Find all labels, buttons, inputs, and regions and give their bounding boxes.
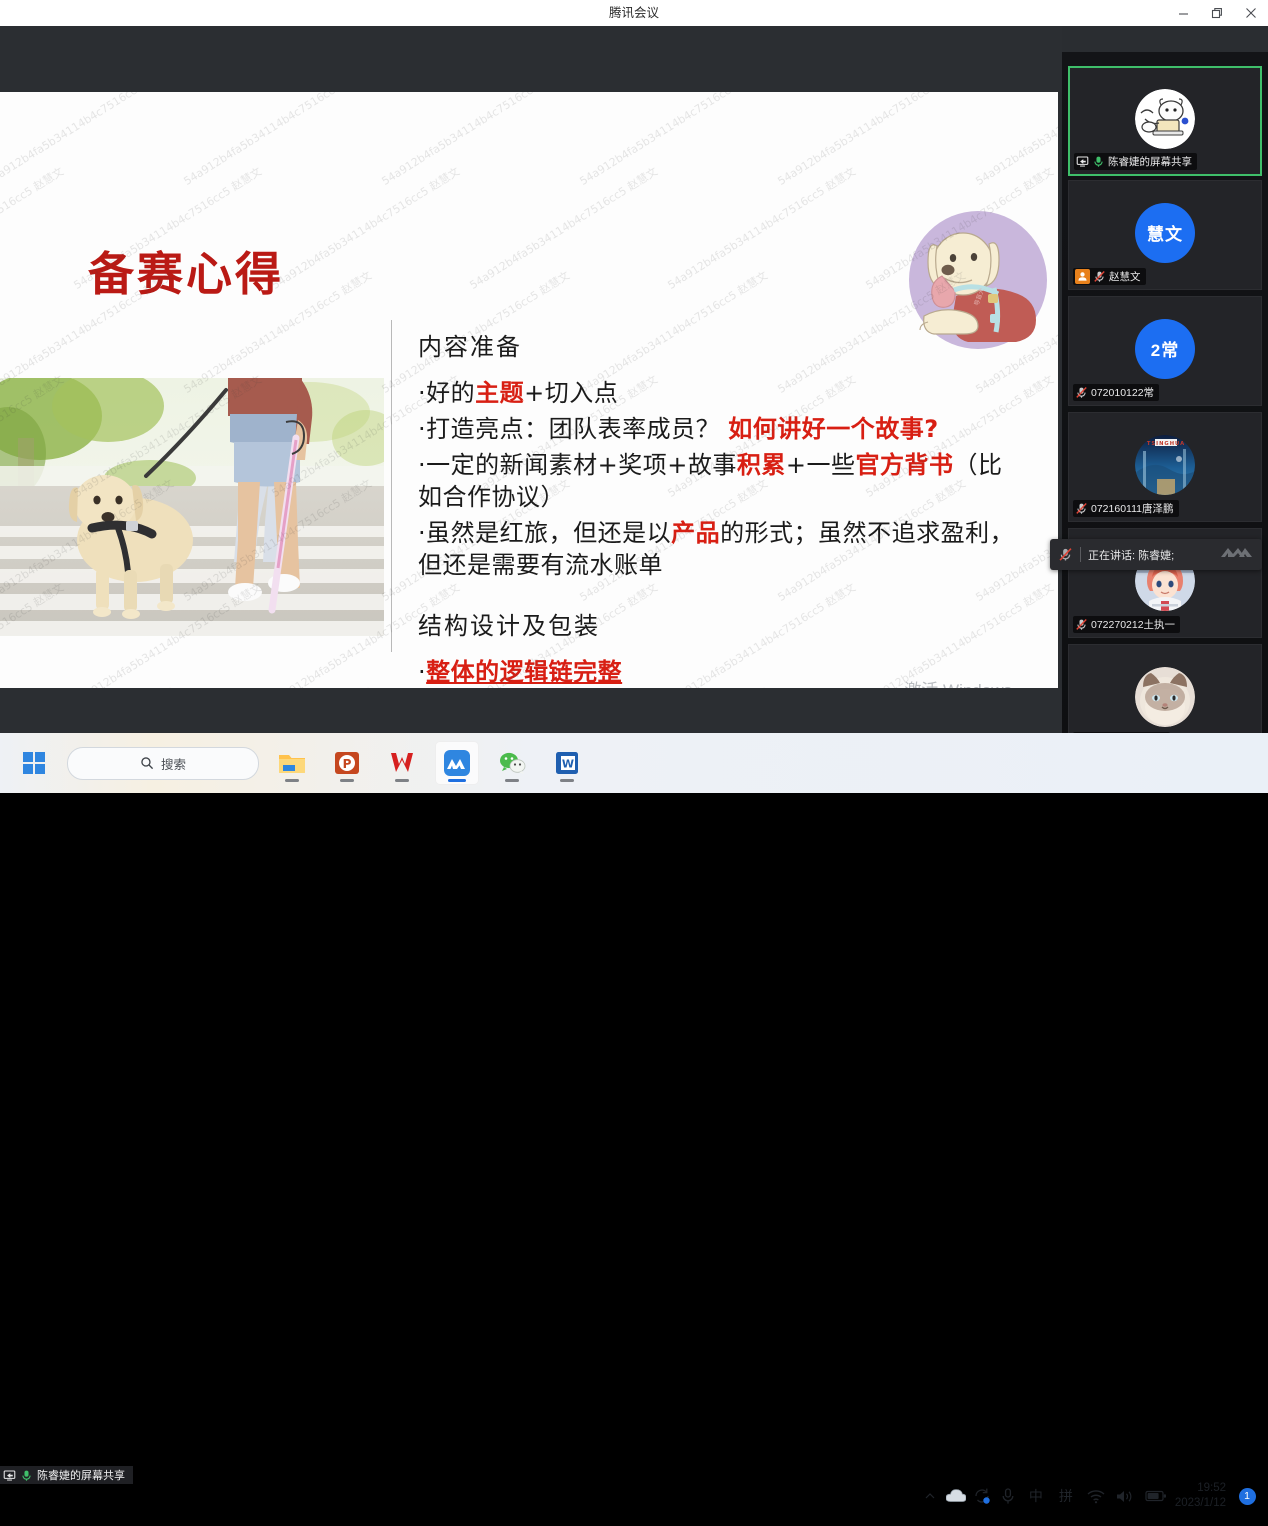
participant-name: 072160111唐泽鹏 bbox=[1091, 501, 1174, 516]
bullet-marker: · bbox=[418, 451, 426, 479]
taskbar-app-file-explorer[interactable] bbox=[270, 741, 314, 785]
powerpoint-icon: P bbox=[334, 750, 360, 776]
watermark-text: 54a912b4fa5b34114b4c7516cc5 赵慧文 bbox=[664, 163, 858, 293]
participant-name: 赵慧文 bbox=[1109, 269, 1141, 284]
shared-slide[interactable]: 备赛心得 bbox=[0, 92, 1058, 688]
file-explorer-icon bbox=[278, 751, 306, 775]
screen-share-icon bbox=[3, 1469, 16, 1482]
tencent-meeting-icon bbox=[443, 749, 471, 777]
window-title: 腾讯会议 bbox=[0, 0, 1268, 26]
screen-sharing-indicator[interactable]: 陈睿婕的屏幕共享 bbox=[0, 1466, 133, 1484]
bullet-part: 一定的新闻素材+奖项+故事 bbox=[426, 451, 737, 479]
close-button[interactable] bbox=[1234, 0, 1268, 26]
watermark-text: 54a912b4fa5b34114b4c7516cc5 赵慧文 bbox=[774, 92, 968, 189]
participant-namebar: 072270212土执一 bbox=[1073, 616, 1180, 633]
bullet-part-accent: 积累 bbox=[737, 451, 786, 479]
start-button[interactable] bbox=[12, 741, 56, 785]
guide-dog-illustration-badge: 导盲犬 bbox=[908, 210, 1048, 350]
slide-body: 内容准备 ·好的主题+切入点 ·打造亮点：团队表率成员？ 如何讲好一个故事? ·… bbox=[418, 332, 1018, 688]
activation-line-1: 激活 Windows bbox=[852, 680, 1012, 688]
tray-overflow-chevron-icon[interactable] bbox=[917, 1466, 943, 1526]
mic-on-icon bbox=[20, 1469, 33, 1482]
content-divider bbox=[391, 320, 392, 652]
bullet-marker: · bbox=[418, 415, 426, 443]
minimize-button[interactable] bbox=[1166, 0, 1200, 26]
participant-rail[interactable]: 陈睿婕的屏幕共享 慧文 bbox=[1062, 52, 1268, 759]
section-heading-structure-design: 结构设计及包装 bbox=[418, 611, 1018, 641]
ime-mode-indicator[interactable]: 中 bbox=[1021, 1466, 1051, 1526]
clock-date: 2023/1/12 bbox=[1175, 1496, 1226, 1511]
sharing-label: 陈睿婕的屏幕共享 bbox=[37, 1467, 125, 1483]
bullet-part-accent: 主题 bbox=[475, 379, 524, 407]
participant-name: 陈睿婕的屏幕共享 bbox=[1108, 154, 1192, 169]
toast-separator bbox=[1080, 547, 1081, 562]
watermark-text: 54a912b4fa5b34114b4c7516cc5 赵慧文 bbox=[576, 92, 770, 189]
title-bar: 腾讯会议 bbox=[0, 0, 1268, 26]
mic-muted-icon bbox=[1093, 270, 1106, 283]
windows-activation-watermark: 激活 Windows 转到"设置"以激活 Windows。 bbox=[852, 680, 1012, 688]
clock-time: 19:52 bbox=[1197, 1481, 1226, 1496]
participant-tile[interactable]: 2常 072010122常 bbox=[1068, 296, 1262, 406]
wps-office-icon bbox=[389, 751, 415, 775]
search-icon bbox=[140, 756, 154, 770]
search-placeholder: 搜索 bbox=[161, 754, 186, 773]
bullet-part: +切入点 bbox=[524, 379, 618, 407]
bullet-marker: · bbox=[418, 379, 426, 407]
ime-pinyin-label: 拼 bbox=[1059, 1486, 1073, 1506]
share-bottom-band bbox=[0, 688, 1062, 733]
bullet-part-accent: 产品 bbox=[671, 519, 720, 547]
wechat-icon bbox=[499, 751, 526, 775]
watermark-text: 54a912b4fa5b34114b4c7516cc5 赵慧文 bbox=[972, 92, 1058, 189]
bullet-part-accent: 官方背书 bbox=[855, 451, 953, 479]
svg-text:W: W bbox=[562, 758, 574, 771]
tencent-meeting-logo-icon bbox=[1220, 544, 1254, 565]
notification-center-button[interactable]: 1 bbox=[1234, 1466, 1260, 1526]
taskbar-app-wps-office[interactable] bbox=[380, 741, 424, 785]
windows-taskbar[interactable]: 搜索 P bbox=[0, 733, 1268, 793]
section-heading-content-prep: 内容准备 bbox=[418, 332, 1018, 362]
mic-muted-icon bbox=[1075, 502, 1088, 515]
microphone-icon[interactable] bbox=[995, 1466, 1021, 1526]
avatar bbox=[1135, 89, 1195, 149]
taskbar-app-tencent-meeting[interactable] bbox=[435, 741, 479, 785]
bullet-part-accent: 整体的逻辑链完整 bbox=[426, 658, 622, 686]
bullet-part-accent: 如何讲好一个故事? bbox=[728, 415, 938, 443]
mic-muted-icon bbox=[1058, 547, 1073, 562]
svg-text:P: P bbox=[343, 757, 352, 771]
taskbar-apps: 搜索 P bbox=[0, 733, 589, 793]
window-controls bbox=[1166, 0, 1268, 26]
watermark-text: 54a912b4fa5b34114b4c7516cc5 赵慧文 bbox=[0, 92, 177, 189]
app-running-indicator bbox=[395, 779, 409, 782]
bullet-part: 打造亮点：团队表率成员？ bbox=[426, 415, 728, 443]
watermark-text: 54a912b4fa5b34114b4c7516cc5 赵慧文 bbox=[466, 163, 660, 293]
ime-mode-label: 中 bbox=[1029, 1486, 1043, 1506]
participant-namebar: 072160111唐泽鹏 bbox=[1073, 500, 1179, 517]
host-icon bbox=[1075, 269, 1090, 284]
participant-namebar: 赵慧文 bbox=[1073, 268, 1146, 285]
participant-tile[interactable]: TSINGHUA 072160111唐泽鹏 bbox=[1068, 412, 1262, 522]
notification-badge: 1 bbox=[1239, 1488, 1256, 1505]
avatar: 2常 bbox=[1135, 319, 1195, 379]
app-running-indicator bbox=[560, 779, 574, 782]
bullet-item: ·好的主题+切入点 bbox=[418, 378, 1018, 410]
svg-text:TSINGHUA: TSINGHUA bbox=[1147, 441, 1185, 447]
screen-share-icon bbox=[1076, 155, 1089, 168]
ime-pinyin-indicator[interactable]: 拼 bbox=[1051, 1466, 1081, 1526]
app-running-indicator bbox=[340, 779, 354, 782]
app-running-indicator bbox=[285, 779, 299, 782]
taskbar-app-word[interactable]: W bbox=[545, 741, 589, 785]
clock[interactable]: 19:52 2023/1/12 bbox=[1171, 1466, 1234, 1526]
bullet-part: 虽然是红旅，但还是以 bbox=[426, 519, 671, 547]
avatar: 慧文 bbox=[1135, 203, 1195, 263]
speaking-toast: 正在讲话: 陈睿婕; bbox=[1050, 539, 1262, 570]
bullet-item: ·打造亮点：团队表率成员？ 如何讲好一个故事? bbox=[418, 414, 1018, 446]
guide-dog-photo bbox=[0, 378, 384, 636]
watermark-text: 54a912b4fa5b34114b4c7516cc5 赵慧文 bbox=[378, 92, 572, 189]
participant-tile[interactable]: 慧文 赵慧文 bbox=[1068, 180, 1262, 290]
bullet-marker: · bbox=[418, 658, 426, 686]
watermark-text: 54a912b4fa5b34114b4c7516cc5 赵慧文 bbox=[0, 683, 177, 688]
bullet-item: ·一定的新闻素材+奖项+故事积累+一些官方背书（比如合作协议） bbox=[418, 450, 1018, 514]
tencent-meeting-window: 腾讯会议 备赛心得 bbox=[0, 0, 1268, 793]
wifi-icon[interactable] bbox=[1081, 1466, 1111, 1526]
battery-icon[interactable] bbox=[1141, 1466, 1171, 1526]
speaking-toast-text: 正在讲话: 陈睿婕; bbox=[1088, 547, 1174, 563]
watermark-text: 54a912b4fa5b34114b4c7516cc5 赵慧文 bbox=[0, 163, 67, 293]
bullet-item: ·虽然是红旅，但还是以产品的形式；虽然不追求盈利，但还是需要有流水账单 bbox=[418, 518, 1018, 582]
app-running-indicator bbox=[505, 779, 519, 782]
bullet-part: 好的 bbox=[426, 379, 475, 407]
share-top-band bbox=[0, 26, 1062, 92]
system-tray[interactable]: 中 拼 bbox=[917, 1466, 1268, 1526]
participant-namebar: 072010122常 bbox=[1073, 384, 1159, 401]
app-running-indicator bbox=[448, 779, 466, 782]
bullet-part: +一些 bbox=[786, 451, 856, 479]
avatar: TSINGHUA bbox=[1135, 435, 1195, 495]
bullet-marker: · bbox=[418, 519, 426, 547]
meeting-stage: 备赛心得 bbox=[0, 26, 1268, 733]
avatar bbox=[1135, 667, 1195, 727]
watermark-text: 54a912b4fa5b34114b4c7516cc5 赵慧文 bbox=[268, 163, 462, 293]
search-input[interactable]: 搜索 bbox=[67, 747, 259, 780]
mic-muted-icon bbox=[1075, 386, 1088, 399]
participant-name: 072270212土执一 bbox=[1091, 617, 1175, 632]
word-icon: W bbox=[555, 750, 579, 776]
mic-on-icon bbox=[1092, 155, 1105, 168]
taskbar-app-powerpoint[interactable]: P bbox=[325, 741, 369, 785]
restore-button[interactable] bbox=[1200, 0, 1234, 26]
onedrive-cloud-icon[interactable] bbox=[943, 1466, 969, 1526]
volume-icon[interactable] bbox=[1111, 1466, 1141, 1526]
participant-namebar: 陈睿婕的屏幕共享 bbox=[1074, 153, 1197, 170]
participant-name: 072010122常 bbox=[1091, 385, 1154, 400]
taskbar-app-wechat[interactable] bbox=[490, 741, 534, 785]
slide-title: 备赛心得 bbox=[88, 238, 284, 304]
participant-tile[interactable]: 陈睿婕的屏幕共享 bbox=[1068, 66, 1262, 176]
mic-muted-icon bbox=[1075, 618, 1088, 631]
watermark-text: 54a912b4fa5b34114b4c7516cc5 赵慧文 bbox=[180, 683, 374, 688]
sync-status-icon[interactable] bbox=[969, 1466, 995, 1526]
watermark-text: 54a912b4fa5b34114b4c7516cc5 赵慧文 bbox=[180, 92, 374, 189]
